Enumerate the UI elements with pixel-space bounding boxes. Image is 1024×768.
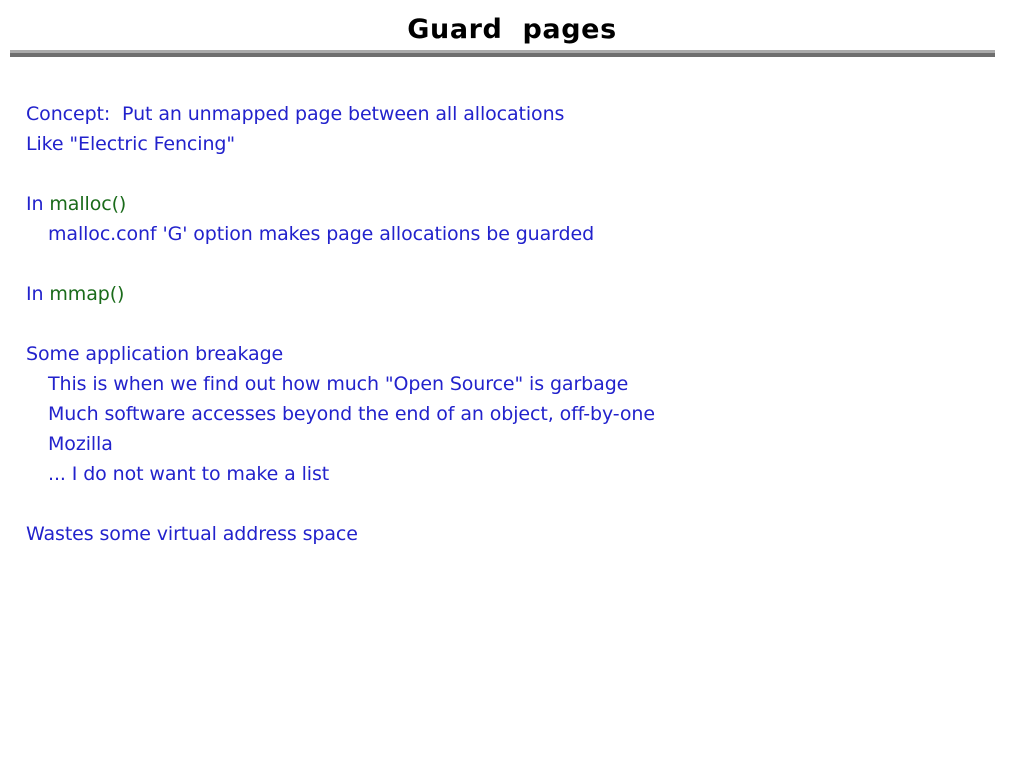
body-sub-line: ... I do not want to make a list <box>26 459 986 489</box>
body-sub-line: Mozilla <box>26 429 986 459</box>
body-sub-line: Much software accesses beyond the end of… <box>26 399 986 429</box>
blank-line <box>26 159 986 189</box>
slide-canvas: Guard pages Concept: Put an unmapped pag… <box>0 0 1024 768</box>
body-line: In mmap() <box>26 279 986 309</box>
body-line: Concept: Put an unmapped page between al… <box>26 99 986 129</box>
body-line: In malloc() <box>26 189 986 219</box>
blank-line <box>26 249 986 279</box>
blank-line <box>26 309 986 339</box>
body-sub-line: This is when we find out how much "Open … <box>26 369 986 399</box>
code-token: malloc() <box>49 193 126 215</box>
page-title: Guard pages <box>0 14 1024 46</box>
line-text-prefix: In <box>26 193 49 215</box>
body-line: Wastes some virtual address space <box>26 519 986 549</box>
body-line: Some application breakage <box>26 339 986 369</box>
code-token: mmap() <box>49 283 124 305</box>
line-text-prefix: In <box>26 283 49 305</box>
title-divider-rule <box>10 50 995 57</box>
slide-body: Concept: Put an unmapped page between al… <box>26 99 986 549</box>
blank-line <box>26 489 986 519</box>
divider-shadow <box>10 53 995 57</box>
body-sub-line: malloc.conf 'G' option makes page alloca… <box>26 219 986 249</box>
body-line: Like "Electric Fencing" <box>26 129 986 159</box>
